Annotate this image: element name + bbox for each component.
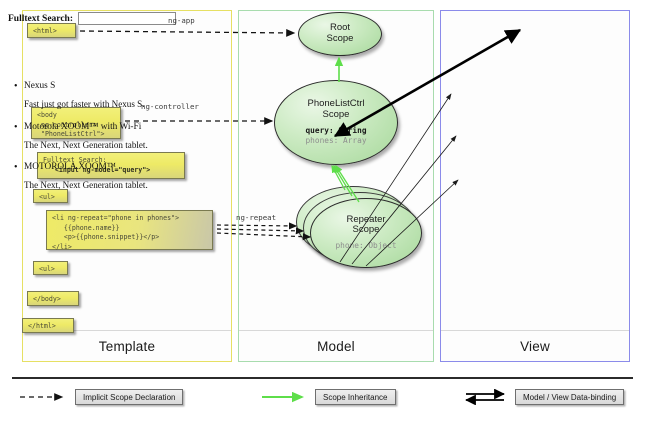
column-model-label: Model <box>239 330 433 361</box>
scope-repeater-title: Repeater Scope <box>346 215 385 237</box>
diagram-canvas: Template Model View <html> <body ng-cont… <box>0 0 645 425</box>
view-item-snippet: Fast just got faster with Nexus S. <box>10 98 639 112</box>
view-list-item: Motorola XOOM™ with Wi-Fi The Next, Next… <box>10 121 639 153</box>
legend-implicit-scope-declaration-label: Implicit Scope Declaration <box>75 389 183 405</box>
legend-double-arrow-icon <box>464 389 508 405</box>
scope-repeater-props: phone: Object <box>335 241 396 251</box>
code-box-html-close: </html> <box>22 318 74 333</box>
legend-scope-inheritance-label: Scope Inheritance <box>315 389 396 405</box>
scope-root: Root Scope <box>298 12 382 56</box>
legend-model-view-data-binding-label: Model / View Data-binding <box>515 389 624 405</box>
view-item-snippet: The Next, Next Generation tablet. <box>10 179 639 193</box>
code-box-html-open: <html> <box>27 23 76 38</box>
view-search-label: Fulltext Search: <box>8 14 73 24</box>
view-search-input[interactable] <box>78 12 176 25</box>
view-item-snippet: The Next, Next Generation tablet. <box>10 139 639 153</box>
label-ng-app: ng-app <box>168 16 195 25</box>
legend-model-view-data-binding: Model / View Data-binding <box>464 386 624 408</box>
code-box-body-close: </body> <box>27 291 79 306</box>
column-view-label: View <box>441 330 629 361</box>
legend: Implicit Scope Declaration Scope Inherit… <box>12 386 633 410</box>
code-box-li-ng-repeat: <li ng-repeat="phone in phones"> {{phone… <box>46 210 213 250</box>
view-search-row: Fulltext Search: <box>8 12 176 25</box>
legend-implicit-scope-declaration: Implicit Scope Declaration <box>20 386 183 408</box>
legend-scope-inheritance: Scope Inheritance <box>262 386 396 408</box>
view-phone-list: Nexus S Fast just got faster with Nexus … <box>10 80 639 202</box>
view-list-item: Nexus S Fast just got faster with Nexus … <box>10 80 639 112</box>
scope-prop-phone: phone: Object <box>335 241 396 251</box>
view-list-item: MOTOROLA XOOM™ The Next, Next Generation… <box>10 161 639 193</box>
code-box-ul-close: <ul> <box>33 261 68 275</box>
legend-dashed-arrow-icon <box>20 391 68 403</box>
label-ng-repeat: ng-repeat <box>236 213 276 222</box>
legend-divider <box>12 377 633 379</box>
view-item-name: Motorola XOOM™ with Wi-Fi <box>10 121 639 135</box>
column-template-label: Template <box>23 330 231 361</box>
view-item-name: Nexus S <box>10 80 639 94</box>
legend-green-arrow-icon <box>262 391 308 403</box>
scope-repeater: Repeater Scope phone: Object <box>310 198 422 268</box>
scope-root-title: Root Scope <box>327 23 354 45</box>
label-ng-controller: ng-controller <box>141 102 199 111</box>
view-item-name: MOTOROLA XOOM™ <box>10 161 639 175</box>
